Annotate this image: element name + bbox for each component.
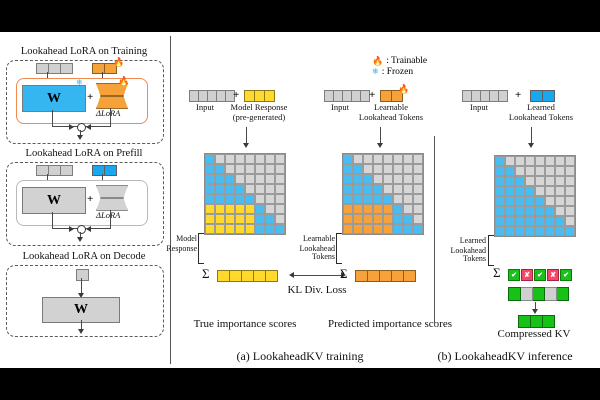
token-cell <box>343 90 352 102</box>
weight-label: W <box>47 91 61 107</box>
b-kv-row <box>508 287 569 301</box>
token-cell <box>499 90 508 102</box>
b-selection-row: ✔ ✘ ✔ ✘ ✔ <box>508 269 572 281</box>
token-cell <box>189 90 199 102</box>
token-cell <box>199 90 208 102</box>
a-left-score-label: True importance scores <box>180 319 310 331</box>
a-right-sum-row <box>355 270 416 282</box>
a-left-plus: + <box>233 89 239 101</box>
lora-up-trapezoid <box>96 185 128 198</box>
kv-cell-dropped <box>521 287 533 301</box>
figure-canvas: Lookahead LoRA on Training 🔥 W ❄ + 🔥 ΔLo… <box>0 32 600 368</box>
a-left-bracket-label-1: Model <box>155 235 197 243</box>
token-cell <box>244 90 255 102</box>
figure-page: Lookahead LoRA on Training 🔥 W ❄ + 🔥 ΔLo… <box>0 0 600 400</box>
a-right-bracket-label-2: Lookahead Tokens <box>279 245 335 262</box>
token-cell <box>530 90 543 102</box>
legend-frozen-label: : Frozen <box>382 67 413 77</box>
a-left-input-label: Input <box>183 103 227 112</box>
a-left-bracket-label-2: Response <box>151 245 197 253</box>
keep-check-icon: ✔ <box>508 269 520 281</box>
b-plus: + <box>515 89 521 101</box>
a-right-plus: + <box>369 89 375 101</box>
merge-node <box>77 225 86 234</box>
prefill-input-tokens <box>36 165 73 176</box>
arrow-left-icon <box>86 124 91 130</box>
token-cell <box>462 90 472 102</box>
token-cell <box>392 270 404 282</box>
token-cell <box>368 270 380 282</box>
weight-label: W <box>47 193 61 209</box>
token-cell <box>352 90 361 102</box>
kv-cell-kept <box>543 315 555 328</box>
drop-cross-icon: ✘ <box>521 269 533 281</box>
fire-icon: 🔥 <box>398 85 409 94</box>
a-left-bracket <box>198 233 204 264</box>
b-compressed-label: Compressed KV <box>478 329 590 341</box>
token-cell <box>105 165 117 176</box>
b-bracket <box>488 235 494 266</box>
b-lookahead-label-1: Learned <box>504 103 578 112</box>
kv-cell-kept <box>533 287 545 301</box>
decode-input-token <box>76 269 89 281</box>
b-input-label: Input <box>457 103 501 112</box>
caption-a: (a) LookaheadKV training <box>195 350 405 363</box>
kv-cell-kept <box>557 287 569 301</box>
token-cell <box>49 165 61 176</box>
delta-lora-label: ΔLoRA <box>96 210 120 220</box>
snowflake-icon: ❄ <box>76 79 83 87</box>
fire-icon: 🔥 <box>372 57 383 66</box>
keep-check-icon: ✔ <box>560 269 572 281</box>
kl-loss-label: KL Div. Loss <box>281 285 353 297</box>
kv-cell-kept <box>531 315 543 328</box>
connector <box>531 127 532 144</box>
a-right-sigma: Σ <box>340 266 348 282</box>
keep-check-icon: ✔ <box>534 269 546 281</box>
arrow-down-icon <box>377 143 383 148</box>
arrow-down-icon <box>243 143 249 148</box>
a-left-sigma: Σ <box>202 266 210 282</box>
a-right-attention-matrix <box>342 153 424 235</box>
a-right-bracket <box>336 233 342 264</box>
b-compressed-row <box>518 315 555 328</box>
a-left-sum-row <box>217 270 278 282</box>
connector <box>110 108 111 127</box>
b-lookahead-label-2: Lookahead Tokens <box>499 113 583 122</box>
a-right-score-label: Predicted importance scores <box>310 319 470 331</box>
token-cell <box>61 63 73 74</box>
a-right-lookahead-label-2: Lookahead Tokens <box>349 113 433 122</box>
connector <box>380 127 381 144</box>
fire-icon: 🔥 <box>118 77 129 86</box>
token-cell <box>208 90 217 102</box>
legend-trainable-label: : Trainable <box>386 56 427 66</box>
a-left-input-row <box>189 90 235 102</box>
arrow-down-icon <box>528 143 534 148</box>
b-bracket-label-2: Lookahead Tokens <box>428 247 486 264</box>
connector <box>246 127 247 144</box>
token-cell <box>380 270 392 282</box>
token-cell <box>355 270 368 282</box>
legend: 🔥 : Trainable ❄ : Frozen <box>372 56 427 77</box>
token-cell <box>472 90 481 102</box>
weight-label: W <box>74 302 88 318</box>
arrow-down-icon <box>77 237 83 242</box>
panel-divider <box>170 36 171 364</box>
caption-b: (b) LookaheadKV inference <box>415 350 595 363</box>
b-attention-matrix <box>494 155 576 237</box>
plus-symbol: + <box>87 91 93 103</box>
token-cell <box>49 63 61 74</box>
token-cell <box>242 270 254 282</box>
arrow-left-icon <box>86 226 91 232</box>
fire-icon: 🔥 <box>113 58 124 67</box>
delta-lora-label: ΔLoRA <box>96 108 120 118</box>
a-left-response-row <box>244 90 275 102</box>
b-lookahead-row <box>530 90 555 102</box>
arrow-right-icon <box>69 226 74 232</box>
kv-cell-kept <box>518 315 531 328</box>
prefill-weight-box: W <box>22 187 86 214</box>
kl-loss-line <box>293 275 343 276</box>
arrow-left-icon <box>289 272 294 278</box>
a-right-input-row <box>324 90 370 102</box>
token-cell <box>404 270 416 282</box>
a-right-bracket-label-1: Learnable <box>288 235 335 243</box>
token-cell <box>324 90 334 102</box>
token-cell <box>254 270 266 282</box>
legend-row-trainable: 🔥 : Trainable <box>372 56 427 66</box>
token-cell <box>61 165 73 176</box>
panel-divider-ab <box>434 136 435 326</box>
token-cell <box>217 270 230 282</box>
token-cell <box>266 270 278 282</box>
a-right-lookahead-label-1: Learnable <box>354 103 428 112</box>
token-cell <box>334 90 343 102</box>
token-cell <box>217 90 226 102</box>
kv-cell-kept <box>508 287 521 301</box>
token-cell <box>543 90 555 102</box>
connector <box>52 212 53 229</box>
token-cell <box>481 90 490 102</box>
prefill-lookahead-tokens <box>92 165 117 176</box>
token-cell <box>490 90 499 102</box>
drop-cross-icon: ✘ <box>547 269 559 281</box>
connector <box>81 278 82 294</box>
plus-symbol: + <box>87 193 93 205</box>
token-cell <box>230 270 242 282</box>
training-weight-box: W <box>22 85 86 112</box>
b-input-row <box>462 90 508 102</box>
a-left-attention-matrix <box>204 153 286 235</box>
legend-row-frozen: ❄ : Frozen <box>372 67 427 77</box>
a-left-response-label-1: Model Response <box>222 103 296 112</box>
snowflake-icon: ❄ <box>372 68 379 76</box>
merge-node <box>77 123 86 132</box>
kv-cell-dropped <box>545 287 557 301</box>
token-cell <box>265 90 275 102</box>
arrow-down-icon <box>532 309 538 314</box>
connector <box>52 110 53 127</box>
left-block-title-training: Lookahead LoRA on Training <box>4 46 164 57</box>
training-input-tokens <box>36 63 73 74</box>
b-bracket-label-1: Learned <box>438 237 486 245</box>
left-block-title-prefill: Lookahead LoRA on Prefill <box>4 148 164 159</box>
left-block-title-decode: Lookahead LoRA on Decode <box>4 251 164 262</box>
arrow-down-icon <box>77 135 83 140</box>
connector <box>110 210 111 229</box>
token-cell <box>380 90 392 102</box>
token-cell <box>255 90 265 102</box>
arrow-right-icon <box>69 124 74 130</box>
b-sigma: Σ <box>493 265 501 281</box>
a-left-response-label-2: (pre-generated) <box>222 113 296 122</box>
arrow-down-icon <box>78 329 84 334</box>
